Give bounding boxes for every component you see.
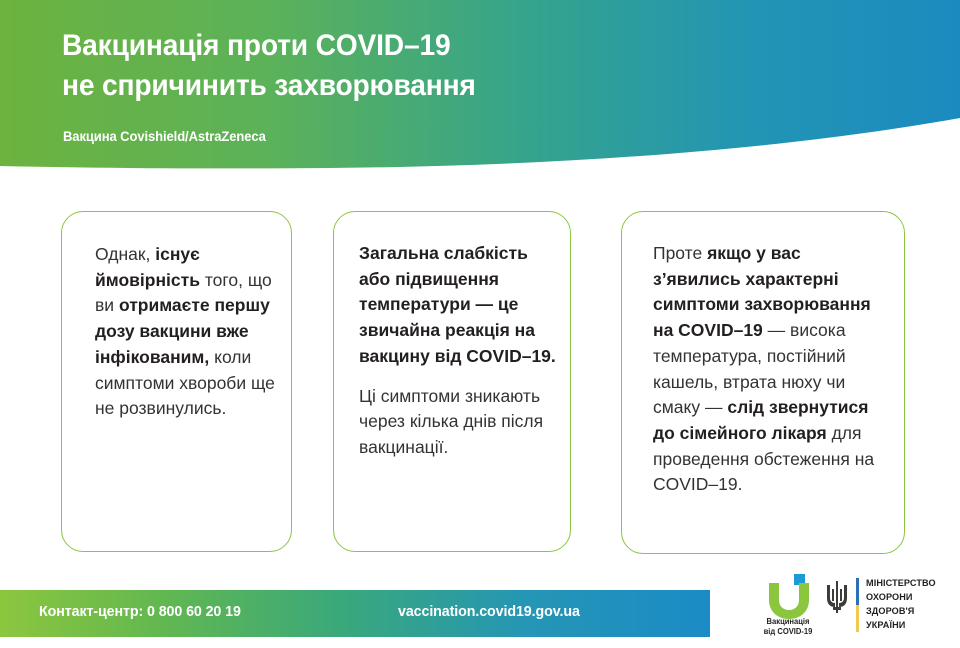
ministry-logo-line: ЗДОРОВ'Я: [866, 605, 936, 619]
ministry-logo-line: УКРАЇНИ: [866, 619, 936, 633]
ministry-logo-line: ОХОРОНИ: [866, 591, 936, 605]
card-paragraph: Ці симптоми зникають через кілька днів п…: [359, 384, 558, 461]
vaccination-logo-v-icon: [766, 582, 812, 620]
card-body: Загальна слабкість або підвищення темпер…: [334, 212, 570, 475]
cards-container: Однак, існує ймовірність того, що ви отр…: [0, 0, 960, 648]
info-card-normal-reaction: Загальна слабкість або підвищення темпер…: [333, 211, 571, 552]
card-body: Однак, існує ймовірність того, що ви отр…: [62, 212, 291, 436]
card-paragraph: Проте якщо у вас з’явились характерні си…: [653, 241, 890, 498]
vaccination-logo-line1: Вакцинація: [750, 617, 826, 627]
vaccination-logo-line2: від COVID-19: [750, 627, 826, 637]
ministry-logo-line: МІНІСТЕРСТВО: [866, 577, 936, 591]
trident-coat-of-arms-icon: [824, 581, 850, 613]
info-card-see-doctor: Проте якщо у вас з’явились характерні си…: [621, 211, 905, 554]
website-link[interactable]: vaccination.covid19.gov.ua: [398, 603, 580, 620]
info-card-probability-infected: Однак, існує ймовірність того, що ви отр…: [61, 211, 292, 552]
vaccination-logo: Вакцинація від COVID-19: [748, 574, 828, 640]
card-paragraph: Загальна слабкість або підвищення темпер…: [359, 241, 558, 370]
infographic-poster: Вакцинація проти COVID–19 не спричинить …: [0, 0, 960, 648]
ministry-logo-divider: [856, 578, 859, 632]
card-paragraph: Однак, існує ймовірність того, що ви отр…: [95, 242, 277, 422]
card-body: Проте якщо у вас з’явились характерні си…: [622, 212, 904, 512]
ministry-logo: МІНІСТЕРСТВООХОРОНИЗДОРОВ'ЯУКРАЇНИ: [824, 576, 944, 636]
contact-center-text: Контакт-центр: 0 800 60 20 19: [39, 603, 241, 620]
ministry-logo-text: МІНІСТЕРСТВООХОРОНИЗДОРОВ'ЯУКРАЇНИ: [866, 577, 936, 632]
